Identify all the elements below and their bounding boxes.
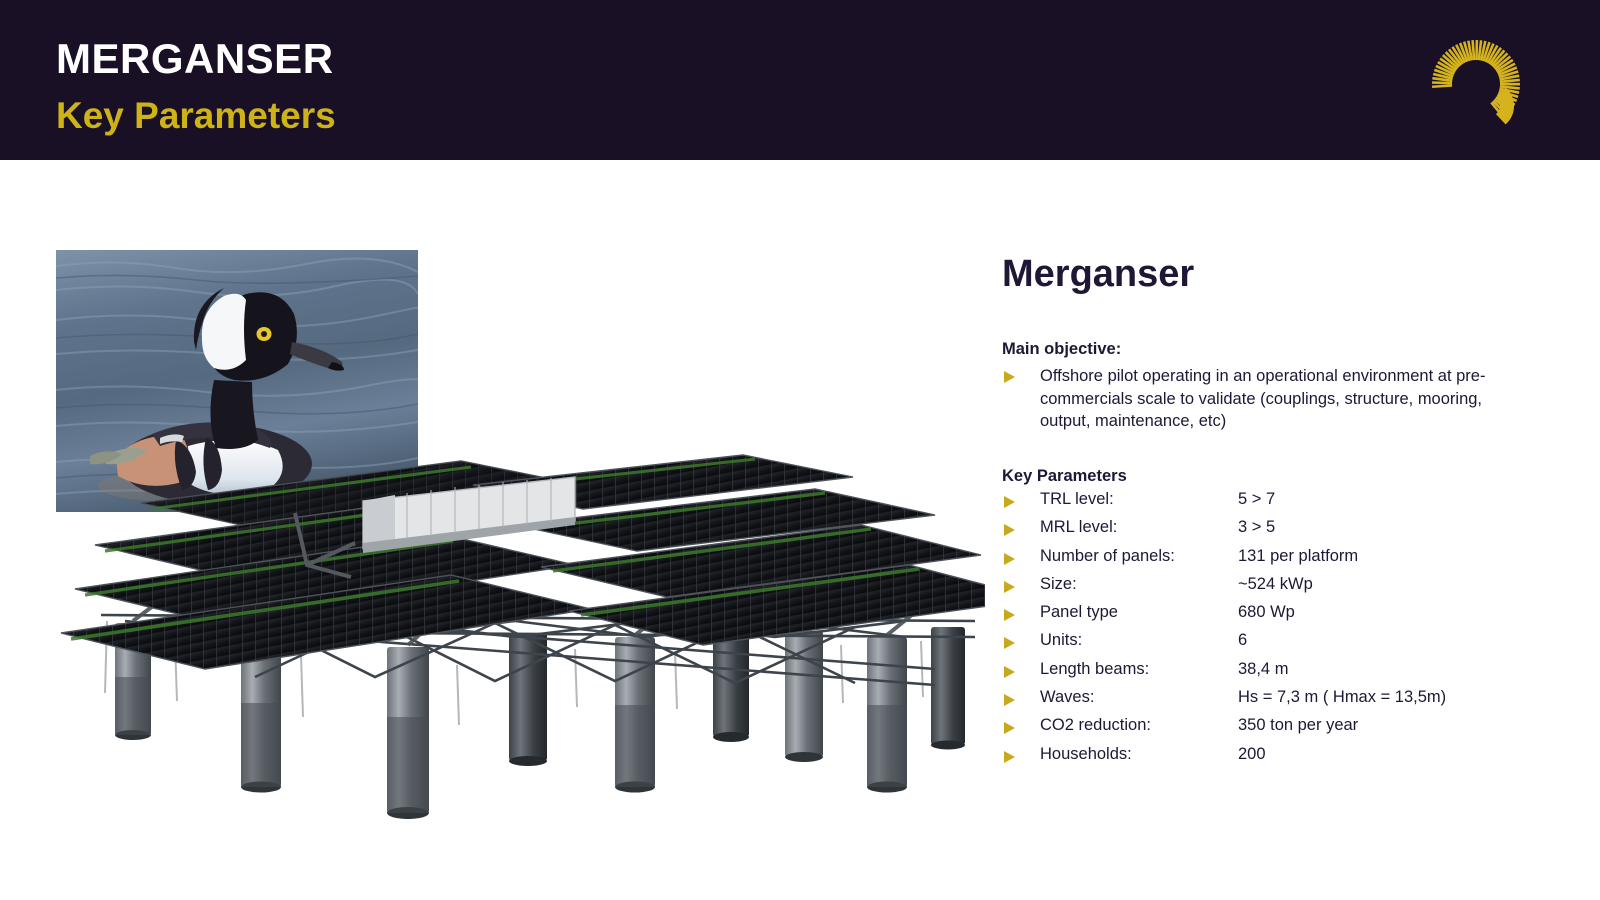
key-parameters-list: TRL level:5 > 7MRL level:3 > 5Number of … <box>1004 490 1560 773</box>
parameter-name: TRL level: <box>1040 490 1238 510</box>
parameter-row: MRL level:3 > 5 <box>1004 518 1560 546</box>
parameter-value: 680 Wp <box>1238 603 1295 623</box>
parameter-name: Size: <box>1040 575 1238 595</box>
parameter-value: 200 <box>1238 745 1266 765</box>
info-panel: Merganser Main objective: Offshore pilot… <box>1002 160 1562 900</box>
parameter-value: ~524 kWp <box>1238 575 1313 595</box>
parameter-row: Units:6 <box>1004 631 1560 659</box>
project-name-heading: Merganser <box>1002 255 1194 293</box>
parameter-value: 5 > 7 <box>1238 490 1275 510</box>
triangle-bullet-icon <box>1004 722 1022 734</box>
parameter-name: MRL level: <box>1040 518 1238 538</box>
parameter-row: CO2 reduction:350 ton per year <box>1004 716 1560 744</box>
triangle-bullet-icon <box>1004 694 1022 706</box>
parameter-value: 3 > 5 <box>1238 518 1275 538</box>
parameter-name: Panel type <box>1040 603 1238 623</box>
parameter-row: Length beams:38,4 m <box>1004 660 1560 688</box>
slide-header-band: MERGANSER Key Parameters <box>0 0 1600 160</box>
triangle-bullet-icon <box>1004 637 1022 649</box>
triangle-bullet-icon <box>1004 496 1022 508</box>
parameter-row: Households:200 <box>1004 745 1560 773</box>
parameter-row: Panel type680 Wp <box>1004 603 1560 631</box>
main-objective-bullet: Offshore pilot operating in an operation… <box>1004 365 1494 433</box>
main-objective-label: Main objective: <box>1002 340 1121 360</box>
arc-sunburst-logo-icon <box>1424 28 1528 132</box>
parameter-row: Size:~524 kWp <box>1004 575 1560 603</box>
visual-area <box>0 160 1000 900</box>
triangle-bullet-icon <box>1004 553 1022 565</box>
triangle-bullet-icon <box>1004 609 1022 621</box>
parameter-value: 6 <box>1238 631 1247 651</box>
parameter-name: Number of panels: <box>1040 547 1238 567</box>
parameter-row: Waves:Hs = 7,3 m ( Hmax = 13,5m) <box>1004 688 1560 716</box>
parameter-value: Hs = 7,3 m ( Hmax = 13,5m) <box>1238 688 1446 708</box>
triangle-bullet-icon <box>1004 666 1022 678</box>
parameter-value: 38,4 m <box>1238 660 1288 680</box>
parameter-name: Length beams: <box>1040 660 1238 680</box>
offshore-solar-platform-render <box>55 425 985 845</box>
page-title: MERGANSER <box>56 38 334 80</box>
parameter-value: 131 per platform <box>1238 547 1358 567</box>
main-objective-text: Offshore pilot operating in an operation… <box>1040 365 1494 433</box>
triangle-bullet-icon <box>1004 524 1022 536</box>
triangle-bullet-icon <box>1004 751 1022 763</box>
platform-render-graphic <box>55 425 985 845</box>
triangle-bullet-icon <box>1004 371 1022 383</box>
parameter-name: Waves: <box>1040 688 1238 708</box>
page-subtitle: Key Parameters <box>56 97 336 134</box>
parameter-row: TRL level:5 > 7 <box>1004 490 1560 518</box>
parameter-name: Households: <box>1040 745 1238 765</box>
parameter-row: Number of panels:131 per platform <box>1004 547 1560 575</box>
parameter-value: 350 ton per year <box>1238 716 1358 736</box>
parameter-name: CO2 reduction: <box>1040 716 1238 736</box>
parameter-name: Units: <box>1040 631 1238 651</box>
triangle-bullet-icon <box>1004 581 1022 593</box>
key-parameters-label: Key Parameters <box>1002 467 1127 487</box>
arc-sunburst-logo <box>1424 28 1528 132</box>
